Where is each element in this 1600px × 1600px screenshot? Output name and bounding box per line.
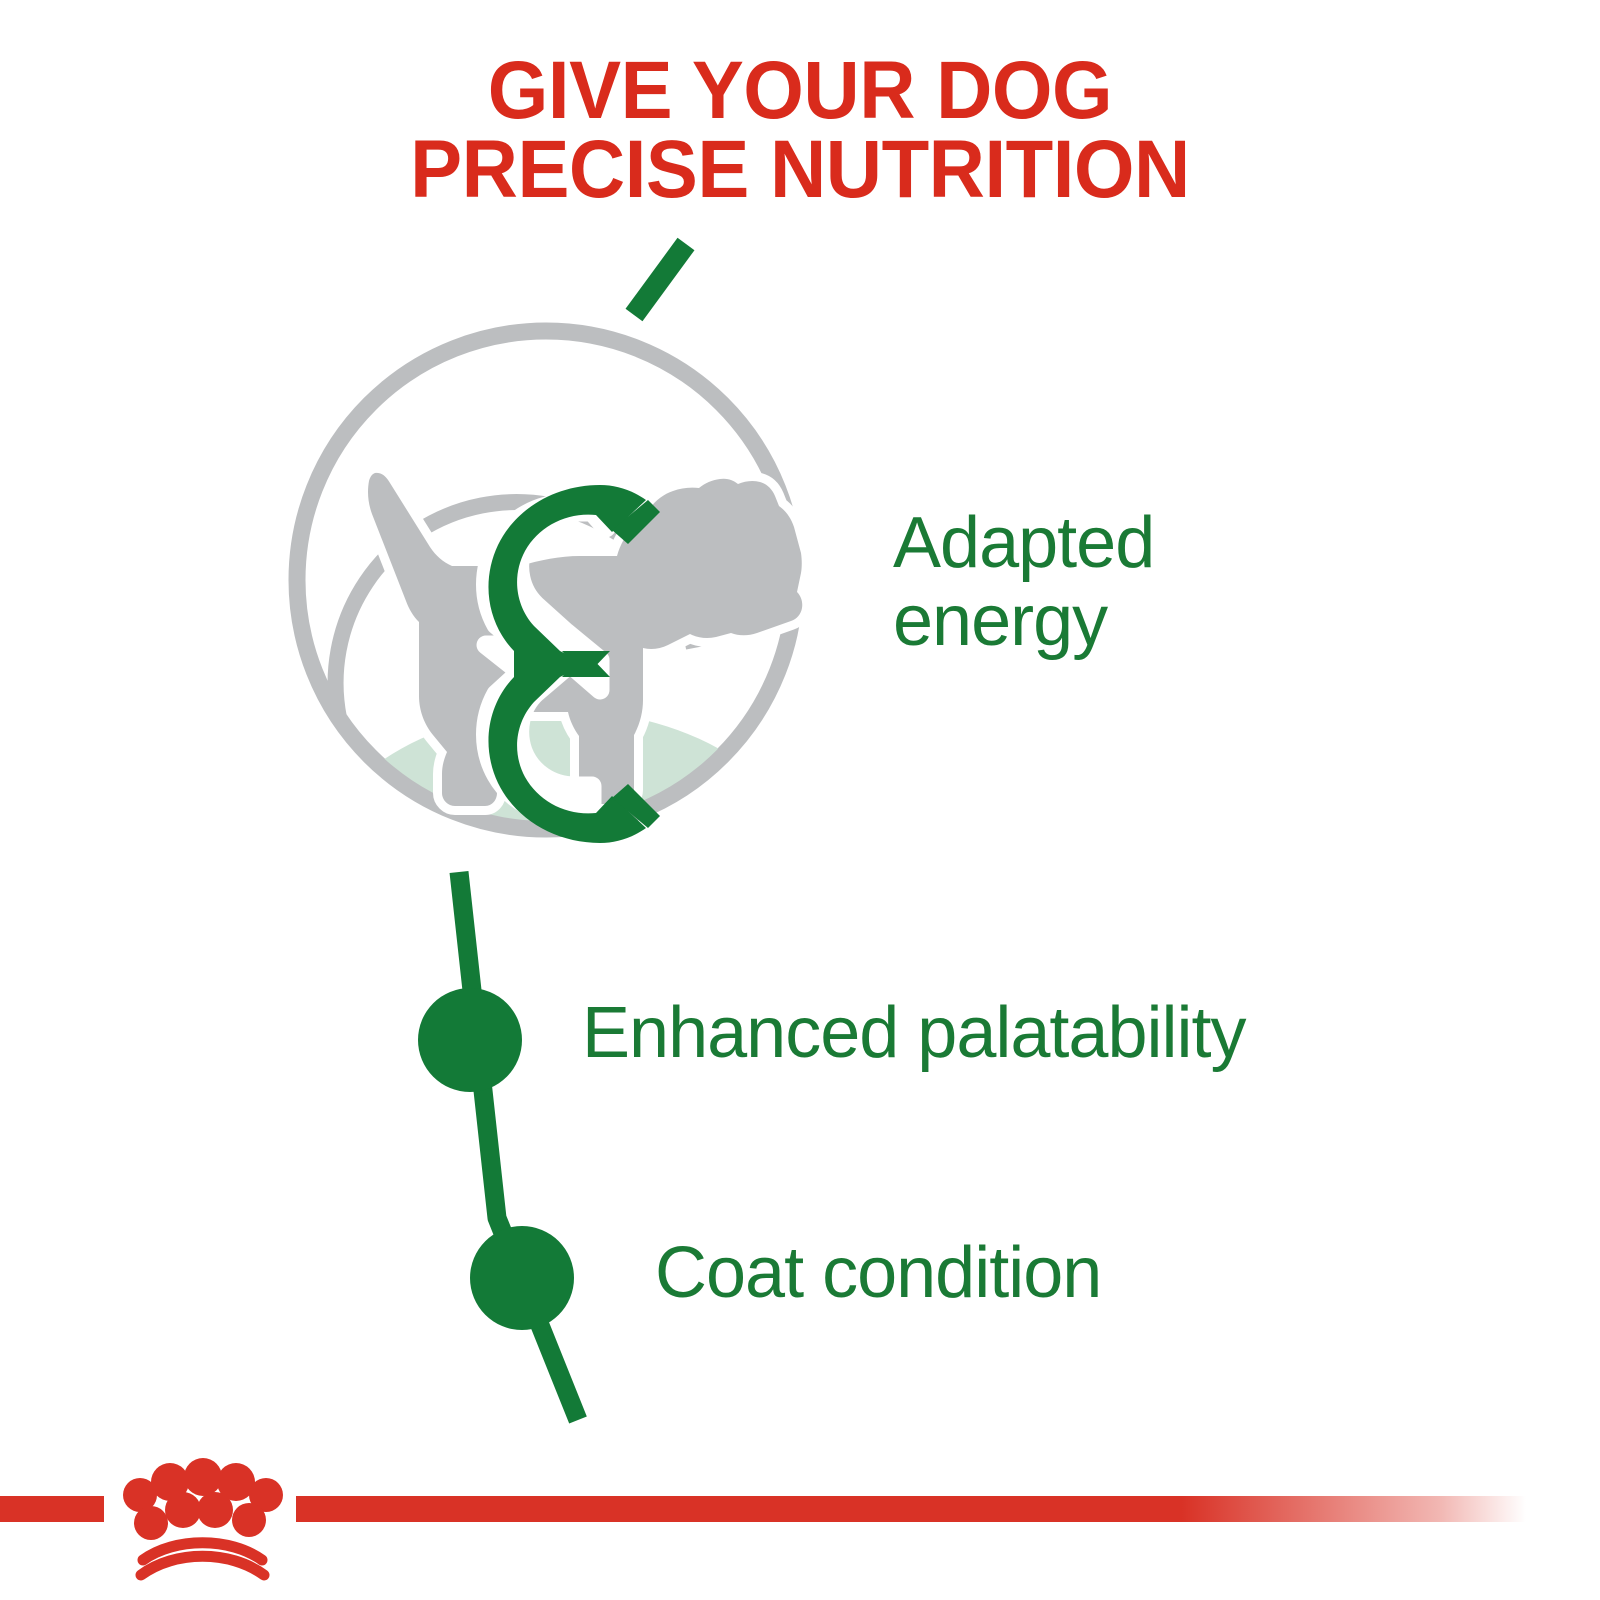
dog-in-circle-icon (297, 331, 810, 1050)
footer-rule-right (296, 1496, 1526, 1522)
benefit-label-coat-condition: Coat condition (655, 1235, 1355, 1313)
illustration-layer (0, 0, 1600, 1600)
benefit-label-adapted-energy: Adapted energy (893, 505, 1373, 661)
footer-rule-left (0, 1496, 104, 1522)
benefit-label-enhanced-palatability: Enhanced palatability (582, 995, 1592, 1073)
accent-tick-icon (634, 244, 686, 315)
bullet-dot-icon (470, 1226, 574, 1330)
bullet-dot-icon (418, 988, 522, 1092)
poster-canvas: GIVE YOUR DOG PRECISE NUTRITION (0, 0, 1600, 1600)
royal-canin-crown-logo (123, 1458, 283, 1575)
benefit-connector-line (418, 872, 578, 1420)
footer-brand-band (0, 1430, 1600, 1600)
